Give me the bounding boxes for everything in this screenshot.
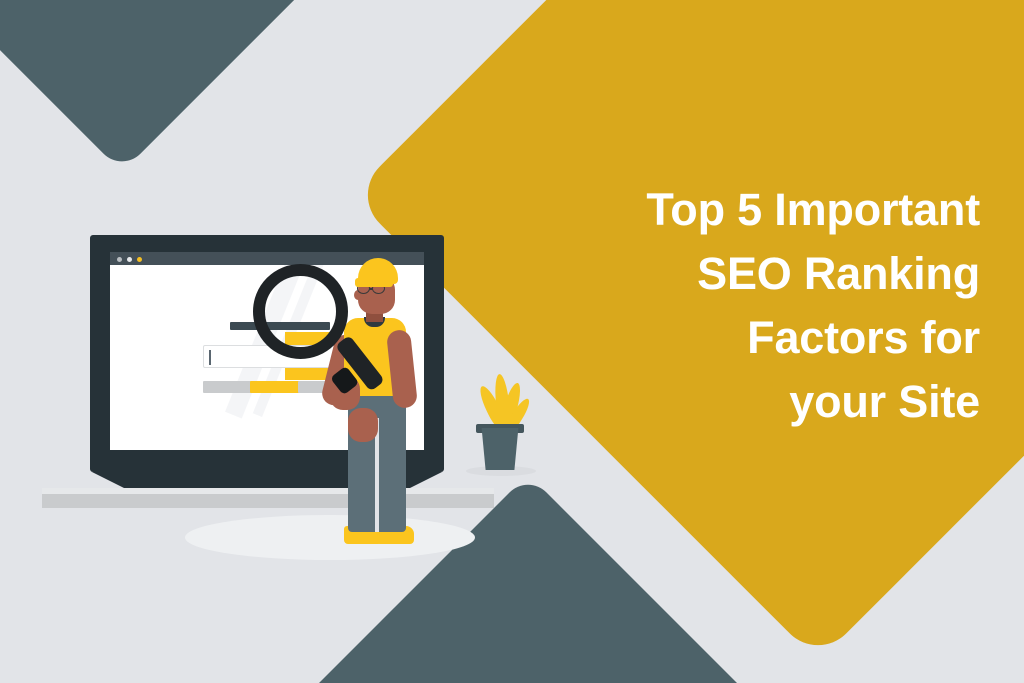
- title-line-1: Top 5 Important: [510, 178, 980, 242]
- hand-lower: [348, 408, 378, 442]
- title-line-2: SEO Ranking: [510, 242, 980, 306]
- magnifying-glass-icon: [253, 264, 348, 359]
- seo-blog-banner: Top 5 Important SEO Ranking Factors for …: [0, 0, 1024, 683]
- result-bar-2: [250, 381, 305, 393]
- plant-pot: [480, 428, 520, 470]
- text-caret: [209, 350, 211, 365]
- title-line-4: your Site: [510, 370, 980, 434]
- window-dot-close-icon[interactable]: [117, 257, 122, 262]
- title-line-3: Factors for: [510, 306, 980, 370]
- illustration-group: [0, 0, 560, 683]
- beanie-brim: [355, 278, 393, 287]
- window-dot-minimize-icon[interactable]: [127, 257, 132, 262]
- window-dot-maximize-icon[interactable]: [137, 257, 142, 262]
- page-title: Top 5 Important SEO Ranking Factors for …: [510, 178, 980, 434]
- glasses-bridge: [369, 288, 373, 290]
